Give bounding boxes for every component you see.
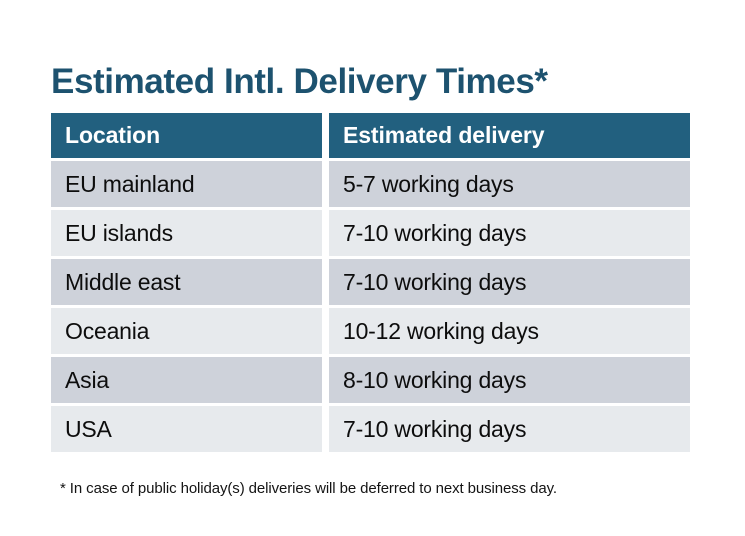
table-header: Location Estimated delivery bbox=[51, 113, 690, 158]
cell-divider bbox=[322, 406, 329, 452]
cell-location: Middle east bbox=[51, 259, 322, 305]
cell-delivery: 10-12 working days bbox=[329, 308, 690, 354]
column-header-location: Location bbox=[51, 113, 322, 158]
cell-divider bbox=[322, 259, 329, 305]
column-header-estimated-delivery: Estimated delivery bbox=[329, 113, 690, 158]
cell-divider bbox=[322, 210, 329, 256]
cell-location: Oceania bbox=[51, 308, 322, 354]
cell-delivery: 5-7 working days bbox=[329, 161, 690, 207]
cell-location: Asia bbox=[51, 357, 322, 403]
cell-divider bbox=[322, 161, 329, 207]
cell-delivery: 7-10 working days bbox=[329, 406, 690, 452]
cell-delivery: 7-10 working days bbox=[329, 210, 690, 256]
cell-delivery: 8-10 working days bbox=[329, 357, 690, 403]
cell-location: EU islands bbox=[51, 210, 322, 256]
table-footnote: * In case of public holiday(s) deliverie… bbox=[60, 480, 557, 497]
table-body: EU mainland 5-7 working days EU islands … bbox=[51, 158, 690, 452]
table-row: Oceania 10-12 working days bbox=[51, 308, 690, 354]
cell-location: EU mainland bbox=[51, 161, 322, 207]
table-row: USA 7-10 working days bbox=[51, 406, 690, 452]
column-divider bbox=[322, 113, 329, 158]
table-header-row: Location Estimated delivery bbox=[51, 113, 690, 158]
table-row: Middle east 7-10 working days bbox=[51, 259, 690, 305]
delivery-times-page: Estimated Intl. Delivery Times* Location… bbox=[0, 0, 745, 536]
page-title: Estimated Intl. Delivery Times* bbox=[51, 60, 548, 104]
table-row: EU islands 7-10 working days bbox=[51, 210, 690, 256]
cell-divider bbox=[322, 357, 329, 403]
table-row: Asia 8-10 working days bbox=[51, 357, 690, 403]
cell-divider bbox=[322, 308, 329, 354]
cell-location: USA bbox=[51, 406, 322, 452]
estimated-delivery-times-table: Location Estimated delivery EU mainland … bbox=[51, 113, 690, 452]
table-row: EU mainland 5-7 working days bbox=[51, 161, 690, 207]
cell-delivery: 7-10 working days bbox=[329, 259, 690, 305]
